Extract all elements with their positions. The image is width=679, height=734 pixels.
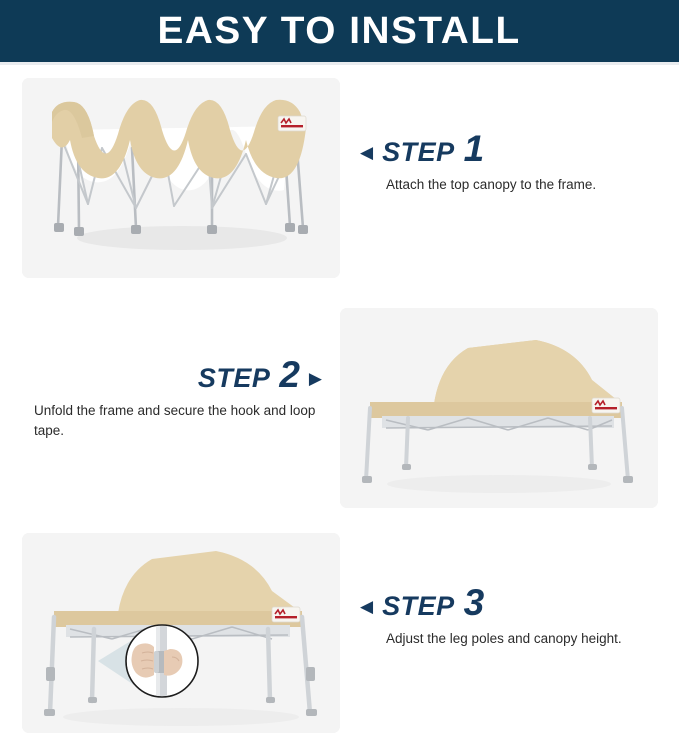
triangle-left-icon: ◀ [360,144,373,166]
step-2-number: 2 [279,358,300,392]
step-3-heading: ◀ STEP 3 [360,580,660,620]
page-header: EASY TO INSTALL [0,0,679,62]
brand-logo-patch [272,607,300,622]
brand-logo-patch [278,116,306,131]
triangle-left-icon: ◀ [360,598,373,620]
step-2-description: Unfold the frame and secure the hook and… [34,401,322,440]
step-2-heading: STEP 2 ▶ [20,352,322,392]
step-1-heading: ◀ STEP 1 [360,126,660,166]
step-row-3: ◀ STEP 3 Adjust the leg poles and canopy… [0,522,679,734]
step-1-image [22,78,340,278]
header-divider [0,62,679,65]
step-3-number: 3 [464,586,485,620]
step-3-description: Adjust the leg poles and canopy height. [386,629,660,649]
step-1-text: ◀ STEP 1 Attach the top canopy to the fr… [360,126,660,195]
step-3-text: ◀ STEP 3 Adjust the leg poles and canopy… [360,580,660,649]
step-2-word: STEP [198,365,271,392]
step-row-1: ◀ STEP 1 Attach the top canopy to the fr… [0,66,679,288]
step-2-text: STEP 2 ▶ Unfold the frame and secure the… [20,352,322,440]
page-title: EASY TO INSTALL [158,10,521,53]
step-2-image [340,308,658,508]
step-1-description: Attach the top canopy to the frame. [386,175,660,195]
brand-logo-patch [592,398,620,413]
step-1-number: 1 [464,132,485,166]
triangle-right-icon: ▶ [309,370,322,392]
step-3-word: STEP [382,593,455,620]
step-1-word: STEP [382,139,455,166]
step-3-image [22,533,340,733]
step-row-2: STEP 2 ▶ Unfold the frame and secure the… [0,296,679,518]
